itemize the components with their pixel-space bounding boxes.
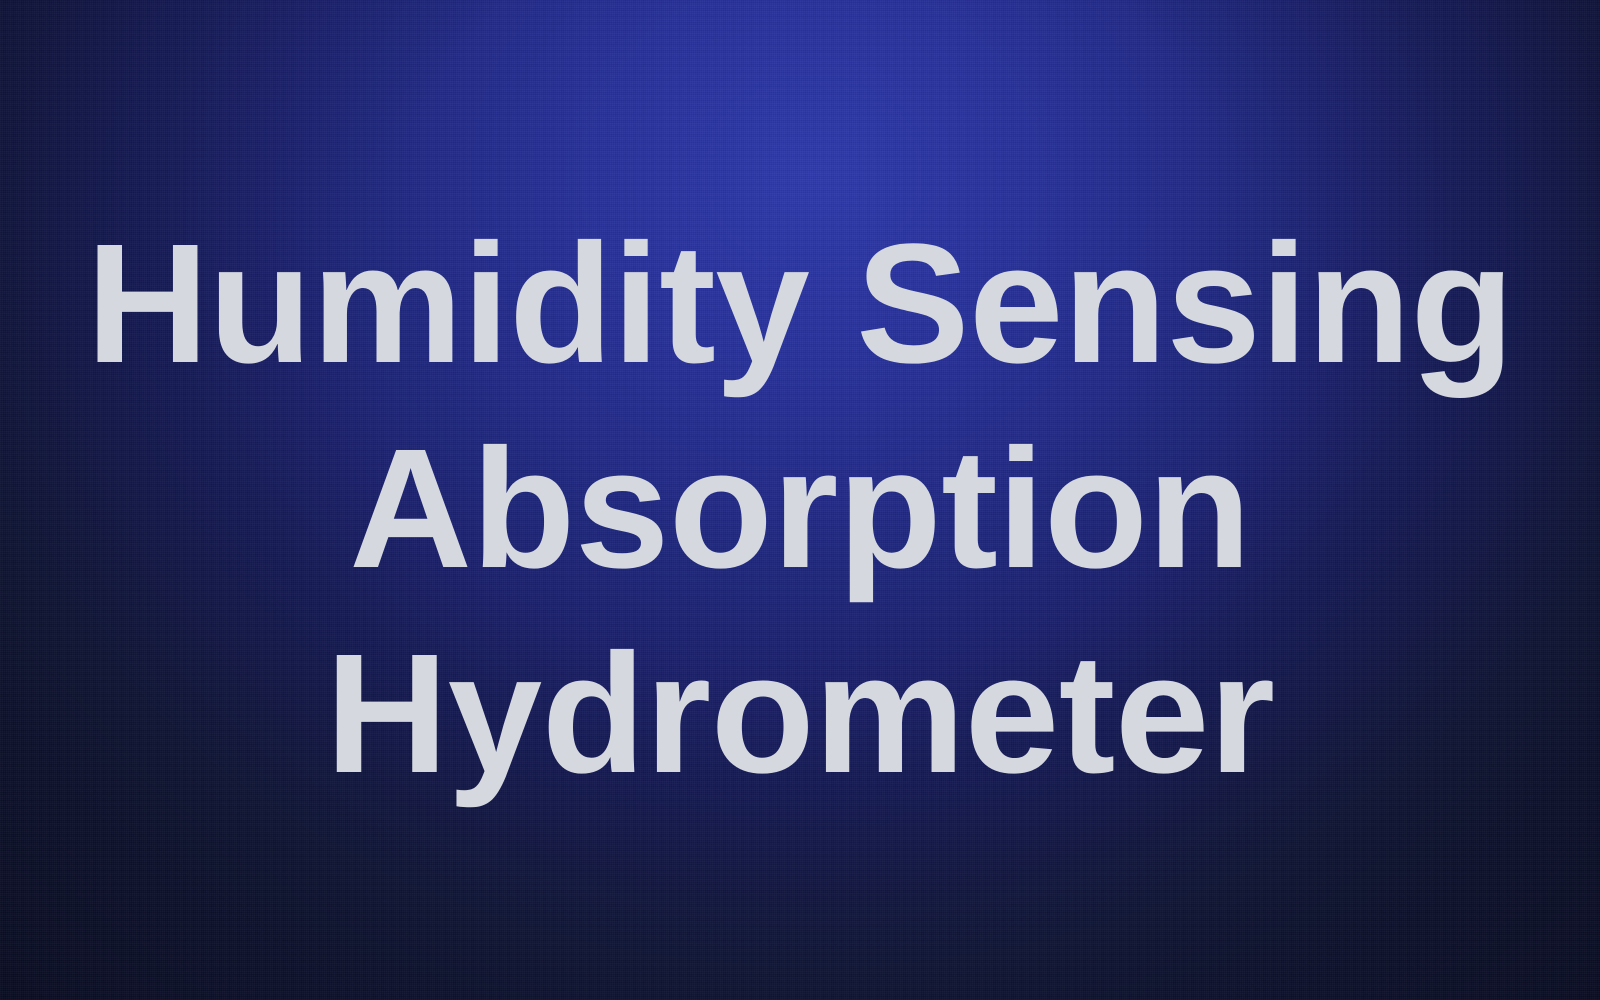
title-text: Humidity Sensing Absorption Hydrometer: [0, 202, 1600, 817]
title-block: Humidity Sensing Absorption Hydrometer: [0, 0, 1600, 1000]
title-slide: Humidity Sensing Absorption Hydrometer: [0, 0, 1600, 1000]
title-line-2: Absorption: [0, 407, 1600, 612]
title-line-3: Hydrometer: [0, 612, 1600, 817]
title-line-1: Humidity Sensing: [0, 202, 1600, 407]
